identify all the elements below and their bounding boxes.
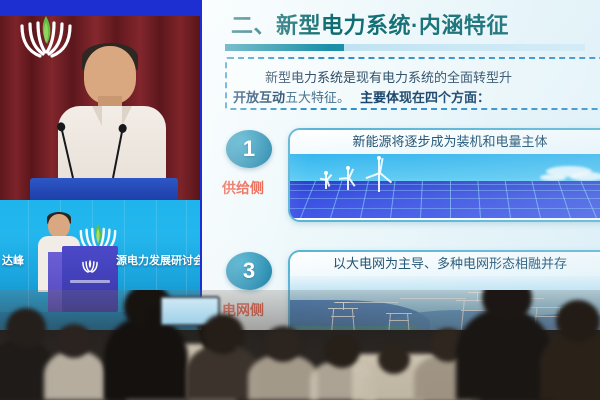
title-underline-rule [225, 44, 585, 51]
item-1-heading: 新能源将逐步成为装机和电量主体 [290, 130, 600, 154]
intro-normal: 五大特征。 [285, 90, 350, 105]
projection-slide: 二、新型电力系统·内涵特征 新型电力系统是现有电力系统的全面转型升 开放互动五大… [200, 0, 600, 330]
banner-text-left: 达峰 [2, 252, 24, 268]
stage-banner-text: 达峰 源电力发展研讨会 [0, 252, 200, 270]
wind-turbine-icon [320, 173, 332, 189]
banner-text-right: 源电力发展研讨会 [116, 252, 202, 268]
intro-line-2: 开放互动五大特征。主要体现在四个方面： [233, 87, 490, 106]
slide-title: 二、新型电力系统·内涵特征 [231, 8, 509, 40]
intro-bold-b: 主要体现在四个方面： [360, 90, 490, 105]
wind-turbine-icon [340, 168, 356, 190]
conference-photo-scene: 二、新型电力系统·内涵特征 新型电力系统是现有电力系统的全面转型升 开放互动五大… [0, 0, 600, 400]
item-1-card: 新能源将逐步成为装机和电量主体 [288, 128, 600, 222]
intro-bold-a: 开放互动 [233, 90, 285, 105]
intro-line-1: 新型电力系统是现有电力系统的全面转型升 [265, 67, 512, 86]
item-1-number: 1 [226, 130, 272, 168]
item-1-side-label: 供给侧 [222, 178, 264, 198]
podium [30, 178, 178, 200]
item-3-number-badge: 3 [226, 252, 272, 290]
solar-panels-wind-turbines-photo [290, 154, 600, 218]
item-3-number: 3 [226, 252, 272, 290]
slide-intro-box: 新型电力系统是现有电力系统的全面转型升 开放互动五大特征。主要体现在四个方面： [225, 57, 600, 110]
item-3-heading: 以大电网为主导、多种电网形态相融并存 [290, 252, 600, 276]
audience-foreground-silhouettes [0, 290, 600, 400]
speaker-closeup-video [0, 0, 202, 200]
item-1-number-badge: 1 [226, 130, 272, 168]
wind-turbine-icon [368, 158, 390, 192]
